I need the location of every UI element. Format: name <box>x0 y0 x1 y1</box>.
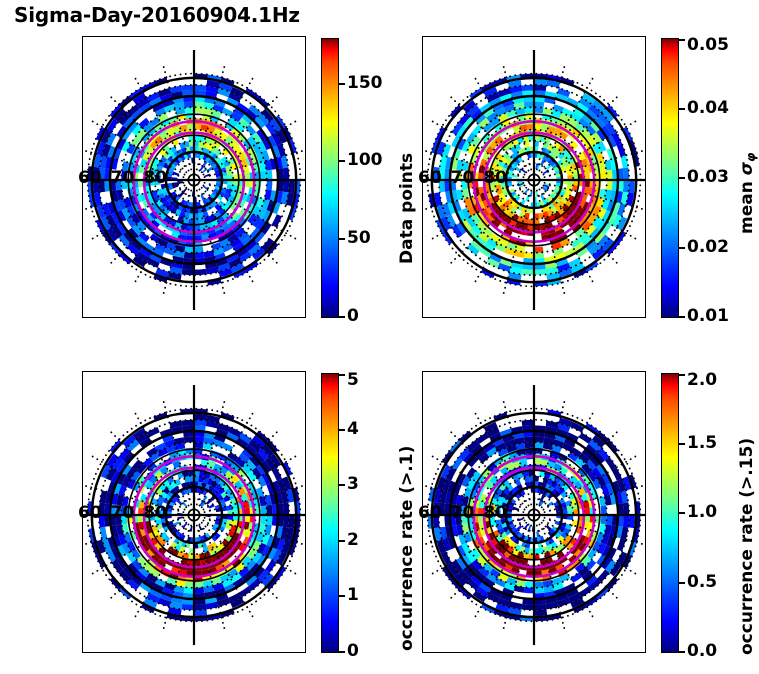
polar-data-cell <box>623 503 629 515</box>
polar-data-cell <box>534 587 544 593</box>
colorbar-tick-label: 0.5 <box>687 572 717 592</box>
polar-data-cell <box>194 252 204 258</box>
polar-data-cell <box>540 159 545 165</box>
colorbar-tick <box>679 582 685 584</box>
polar-data-cell <box>283 168 289 180</box>
polar-data-cell <box>184 252 194 258</box>
polar-data-cell <box>182 604 194 610</box>
polar-data-cell <box>194 587 204 593</box>
colorbar-tick-label: 4 <box>347 419 359 439</box>
polar-data-cell <box>121 180 127 190</box>
polar-data-cell <box>439 180 445 192</box>
polar-data-cell <box>184 587 194 593</box>
polar-data-cell <box>121 515 127 525</box>
polar-data-cell <box>595 586 609 599</box>
polar-scatter-svg <box>422 371 646 653</box>
polar-data-cell <box>459 431 473 444</box>
figure-title: Sigma-Day-20160904.1Hz <box>14 3 300 27</box>
figure-canvas: Sigma-Day-20160904.1Hz 607080 0 50 100 1… <box>0 0 759 674</box>
colorbar-tick <box>339 374 345 376</box>
polar-data-cell <box>433 502 439 515</box>
polar-data-cell <box>99 180 105 192</box>
polar-data-cell <box>288 180 294 193</box>
colorbar-title: occurrence rate (>.1) <box>397 446 417 651</box>
colorbar-tick-label: 2.0 <box>687 370 717 390</box>
polar-data-cell <box>194 85 206 91</box>
polar-scatter-svg <box>82 36 306 318</box>
polar-data-cell <box>534 107 544 113</box>
panel-occurrence-rate-01: 607080 <box>82 371 306 653</box>
polar-data-cell <box>522 604 534 610</box>
colorbar-title: Data points <box>397 153 417 264</box>
polar-data-cell <box>194 107 204 113</box>
colorbar-tick <box>679 512 685 514</box>
polar-data-cell <box>601 171 607 181</box>
polar-data-cell <box>623 168 629 180</box>
colorbar-gradient <box>661 373 679 653</box>
colorbar-title: occurrence rate (>.15) <box>737 438 757 655</box>
polar-data-cell <box>534 252 544 258</box>
polar-data-cell <box>261 506 267 516</box>
colorbar-tick-label: 0 <box>347 306 359 326</box>
polar-data-cell <box>439 168 445 180</box>
polar-data-cell <box>522 420 534 426</box>
colorbar-tick <box>339 160 345 162</box>
polar-data-cell <box>522 269 534 275</box>
polar-data-cell <box>99 515 105 527</box>
polar-data-cell <box>182 420 194 426</box>
colorbar-tick-label: 0.01 <box>687 306 729 326</box>
colorbar-tick-label: 3 <box>347 474 359 494</box>
polar-data-cell <box>601 506 607 516</box>
colorbar-tick-label: 2 <box>347 530 359 550</box>
polar-data-cell <box>461 180 467 190</box>
polar-data-cell <box>261 171 267 181</box>
colorbar-tick <box>679 316 685 318</box>
polar-plot-area <box>82 371 306 653</box>
polar-data-cell <box>283 503 289 515</box>
colorbar-tick <box>339 238 345 240</box>
colorbar-mean-sigma-phi: 0.01 0.02 0.03 0.04 0.05 mean σφ <box>661 38 679 318</box>
polar-data-cell <box>459 586 473 599</box>
colorbar-tick-label: 0.0 <box>687 641 717 661</box>
polar-data-cell <box>182 269 194 275</box>
colorbar-tick <box>339 484 345 486</box>
colorbar-occurrence-rate-01: 0 1 2 3 4 5 occurrence rate (>.1) <box>321 373 339 653</box>
colorbar-gradient <box>321 373 339 653</box>
colorbar-tick-label: 1 <box>347 585 359 605</box>
colorbar-tick <box>339 316 345 318</box>
colorbar-tick-label: 0.05 <box>687 35 729 55</box>
colorbar-tick <box>679 177 685 179</box>
colorbar-tick-label: 0.02 <box>687 237 729 257</box>
colorbar-tick <box>679 247 685 249</box>
colorbar-tick-label: 150 <box>347 73 383 93</box>
colorbar-tick <box>339 595 345 597</box>
polar-data-cell <box>99 503 105 515</box>
colorbar-tick <box>679 443 685 445</box>
colorbar-tick <box>679 108 685 110</box>
polar-scatter-svg <box>422 36 646 318</box>
polar-data-cell <box>628 515 634 528</box>
polar-data-cell <box>433 167 439 180</box>
colorbar-tick-label: 5 <box>347 370 359 390</box>
polar-data-cell <box>288 515 294 528</box>
polar-scatter-svg <box>82 371 306 653</box>
polar-data-cell <box>182 85 194 91</box>
polar-data-cell <box>540 494 545 500</box>
polar-data-cell <box>119 586 133 599</box>
polar-data-cell <box>524 587 534 593</box>
polar-data-cell <box>200 195 205 201</box>
panel-mean-sigma-phi: 607080 <box>422 36 646 318</box>
colorbar-tick <box>339 83 345 85</box>
colorbar-tick-label: 0.04 <box>687 98 729 118</box>
colorbar-data-points: 0 50 100 150 Data points <box>321 38 339 318</box>
polar-data-cell <box>255 96 269 109</box>
polar-data-cell <box>540 195 545 201</box>
colorbar-tick <box>339 429 345 431</box>
polar-data-cell <box>119 251 133 264</box>
polar-data-cell <box>194 442 204 448</box>
polar-data-cell <box>93 167 99 180</box>
colorbar-tick <box>679 39 685 41</box>
polar-data-cell <box>617 538 626 551</box>
colorbar-tick-label: 50 <box>347 228 371 248</box>
colorbar-tick-label: 1.5 <box>687 433 717 453</box>
colorbar-tick <box>339 540 345 542</box>
polar-plot-area <box>82 36 306 318</box>
panel-occurrence-rate-015: 607080 <box>422 371 646 653</box>
panel-data-points: 607080 <box>82 36 306 318</box>
colorbar-tick <box>339 651 345 653</box>
polar-data-cell <box>194 420 206 426</box>
polar-data-cell <box>522 85 534 91</box>
polar-data-cell <box>628 180 634 193</box>
phi-subscript-glyph: φ <box>744 153 758 162</box>
polar-data-cell <box>119 96 133 109</box>
polar-data-cell <box>209 504 215 509</box>
colorbar-tick-label: 1.0 <box>687 502 717 522</box>
colorbar-occurrence-rate-015: 0.0 0.5 1.0 1.5 2.0 occurrence rate (>.1… <box>661 373 679 653</box>
polar-plot-area <box>422 371 646 653</box>
colorbar-gradient <box>661 38 679 318</box>
polar-data-cell <box>534 85 546 91</box>
sigma-glyph: σ <box>737 162 757 175</box>
polar-plot-area <box>422 36 646 318</box>
colorbar-title: mean σφ <box>737 153 758 234</box>
colorbar-gradient <box>321 38 339 318</box>
polar-data-cell <box>534 442 544 448</box>
colorbar-tick-label: 0.03 <box>687 167 729 187</box>
polar-data-cell <box>524 252 534 258</box>
colorbar-tick <box>679 374 685 376</box>
polar-data-cell <box>99 168 105 180</box>
polar-data-cell <box>173 521 179 526</box>
colorbar-tick <box>679 651 685 653</box>
colorbar-tick-label: 100 <box>347 150 383 170</box>
polar-data-cell <box>461 515 467 525</box>
colorbar-tick-label: 0 <box>347 641 359 661</box>
polar-data-cell <box>439 503 445 515</box>
